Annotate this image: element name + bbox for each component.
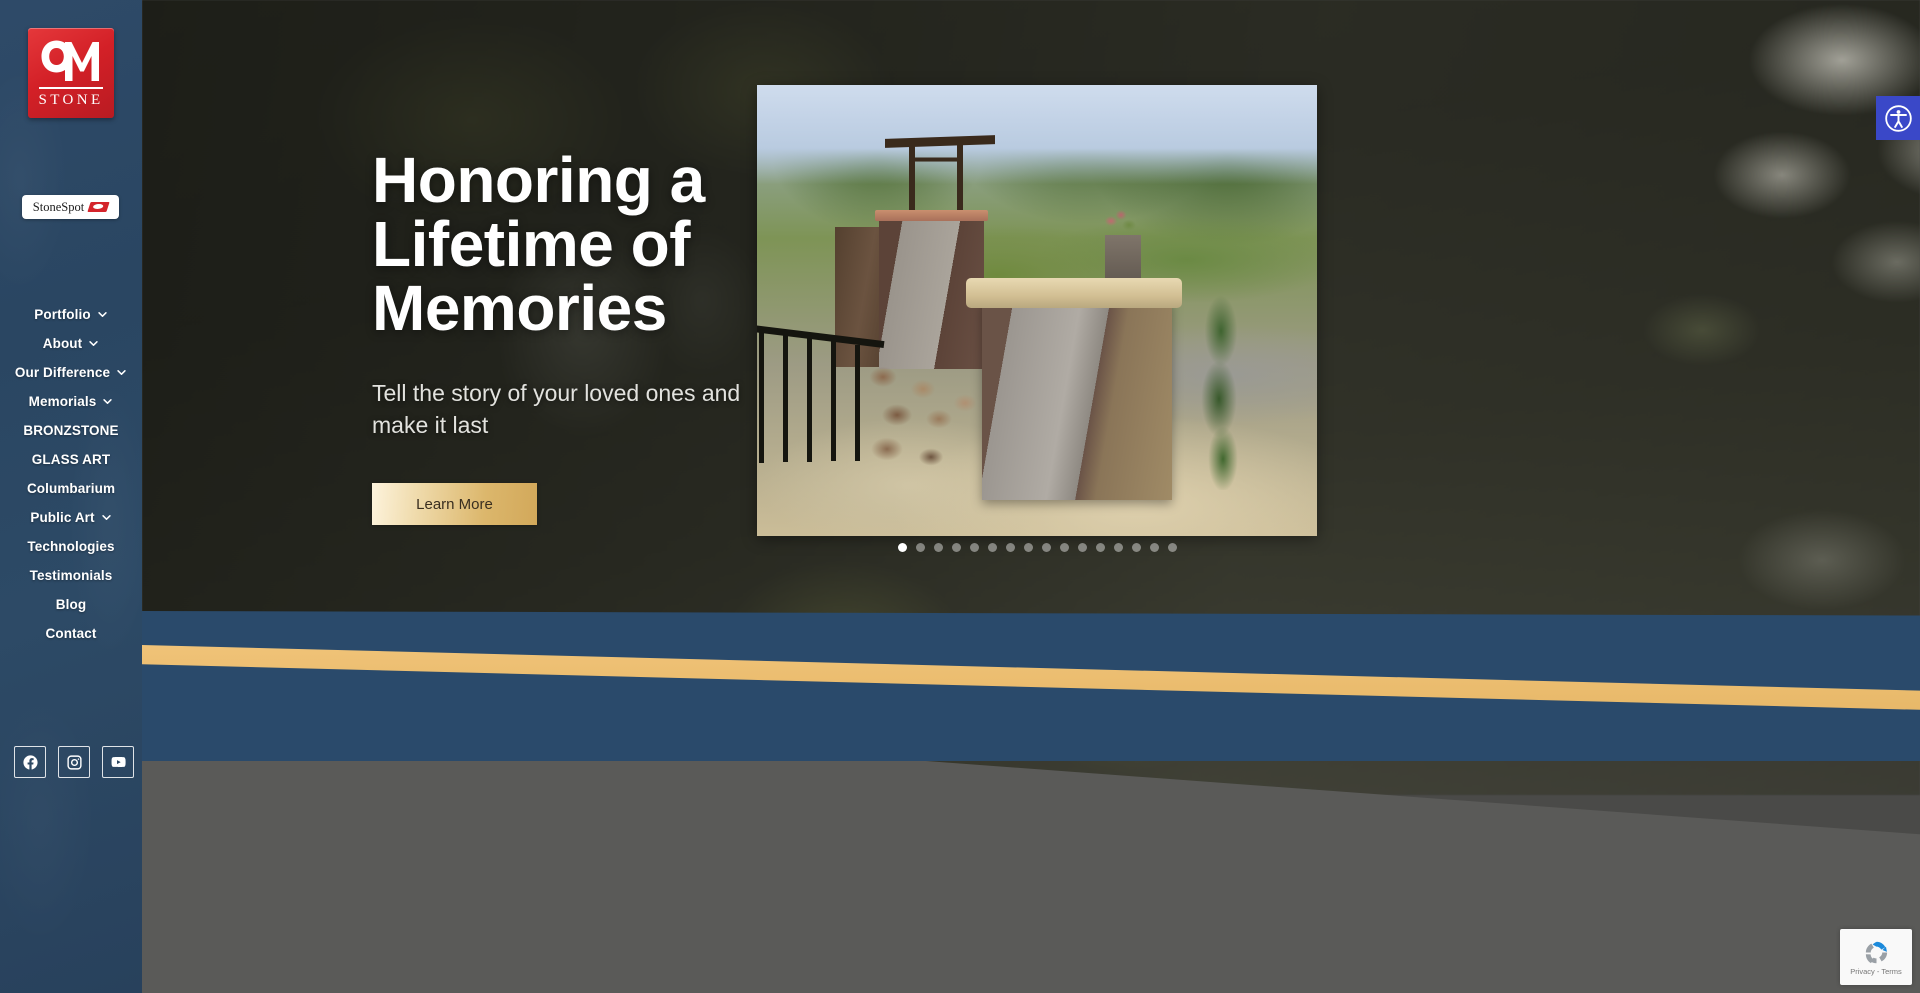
carousel-dot-3[interactable] <box>934 543 943 552</box>
chevron-down-icon[interactable] <box>88 338 99 349</box>
sidebar-item-label: BRONZSTONE <box>23 423 118 438</box>
carousel-dot-13[interactable] <box>1114 543 1123 552</box>
sidebar-item-contact[interactable]: Contact <box>0 619 142 648</box>
sidebar-item-glass-art[interactable]: GLASS ART <box>0 445 142 474</box>
chevron-down-icon[interactable] <box>116 367 127 378</box>
stonespot-button[interactable]: StoneSpot <box>22 195 119 219</box>
sidebar-item-portfolio[interactable]: Portfolio <box>0 300 142 329</box>
carousel-dot-1[interactable] <box>898 543 907 552</box>
sidebar-item-about[interactable]: About <box>0 329 142 358</box>
carousel-dot-6[interactable] <box>988 543 997 552</box>
youtube-icon[interactable] <box>102 746 134 778</box>
learn-more-button[interactable]: Learn More <box>372 483 537 525</box>
logo-square: STONE <box>28 28 114 118</box>
sidebar-item-public-art[interactable]: Public Art <box>0 503 142 532</box>
front-columbarium-monument <box>982 300 1172 500</box>
recaptcha-badge[interactable]: Privacy - Terms <box>1840 929 1912 985</box>
hero-carousel <box>757 85 1317 536</box>
carousel-dot-5[interactable] <box>970 543 979 552</box>
carousel-dot-9[interactable] <box>1042 543 1051 552</box>
carousel-dot-4[interactable] <box>952 543 961 552</box>
hero-subheading: Tell the story of your loved ones and ma… <box>372 378 792 441</box>
sidebar-item-label: Columbarium <box>27 481 115 496</box>
carousel-dot-8[interactable] <box>1024 543 1033 552</box>
sidebar-item-label: GLASS ART <box>32 452 110 467</box>
logo-wordmark: STONE <box>28 92 114 109</box>
accessibility-icon[interactable] <box>1876 96 1920 140</box>
stonespot-badge-icon <box>88 202 110 212</box>
sidebar-item-bronzstone[interactable]: BRONZSTONE <box>0 416 142 445</box>
carousel-dot-16[interactable] <box>1168 543 1177 552</box>
sidebar-item-columbarium[interactable]: Columbarium <box>0 474 142 503</box>
flower-planter <box>1105 235 1141 280</box>
sidebar-item-memorials[interactable]: Memorials <box>0 387 142 416</box>
hero-content: Honoring a Lifetime of Memories Tell the… <box>372 148 792 525</box>
carousel-pagination <box>757 543 1317 552</box>
recaptcha-label: Privacy - Terms <box>1850 967 1902 976</box>
stonespot-label: StoneSpot <box>33 200 84 215</box>
chevron-down-icon[interactable] <box>97 309 108 320</box>
recaptcha-icon <box>1863 939 1890 966</box>
sidebar-item-label: About <box>43 336 82 351</box>
social-links <box>14 746 134 778</box>
sidebar-item-label: Memorials <box>29 394 97 409</box>
carousel-dot-12[interactable] <box>1096 543 1105 552</box>
sidebar-item-blog[interactable]: Blog <box>0 590 142 619</box>
sidebar-item-label: Portfolio <box>34 307 90 322</box>
carousel-slide-image[interactable] <box>757 85 1317 536</box>
carousel-dot-7[interactable] <box>1006 543 1015 552</box>
main-navigation: PortfolioAboutOur DifferenceMemorialsBRO… <box>0 300 142 648</box>
sidebar-item-label: Testimonials <box>30 568 113 583</box>
sidebar-item-technologies[interactable]: Technologies <box>0 532 142 561</box>
chevron-down-icon[interactable] <box>101 512 112 523</box>
sidebar-item-label: Contact <box>46 626 97 641</box>
sidebar: STONE StoneSpot PortfolioAboutOur Differ… <box>0 0 142 993</box>
sidebar-item-label: Blog <box>56 597 86 612</box>
site-logo[interactable]: STONE <box>28 28 114 118</box>
chevron-down-icon[interactable] <box>102 396 113 407</box>
carousel-dot-11[interactable] <box>1078 543 1087 552</box>
sidebar-item-label: Public Art <box>30 510 94 525</box>
sidebar-item-label: Technologies <box>27 539 114 554</box>
carousel-dot-14[interactable] <box>1132 543 1141 552</box>
hero-heading: Honoring a Lifetime of Memories <box>372 148 792 340</box>
logo-monogram-icon <box>28 37 114 84</box>
sidebar-item-our-difference[interactable]: Our Difference <box>0 358 142 387</box>
sidebar-item-label: Our Difference <box>15 365 110 380</box>
cypress-shrub <box>1197 295 1245 490</box>
carousel-dot-2[interactable] <box>916 543 925 552</box>
decorative-rocks <box>857 357 1002 482</box>
facebook-icon[interactable] <box>14 746 46 778</box>
instagram-icon[interactable] <box>58 746 90 778</box>
carousel-dot-15[interactable] <box>1150 543 1159 552</box>
sidebar-item-testimonials[interactable]: Testimonials <box>0 561 142 590</box>
page-root: STONE StoneSpot PortfolioAboutOur Differ… <box>0 0 1920 993</box>
logo-divider <box>39 87 103 89</box>
carousel-dot-10[interactable] <box>1060 543 1069 552</box>
